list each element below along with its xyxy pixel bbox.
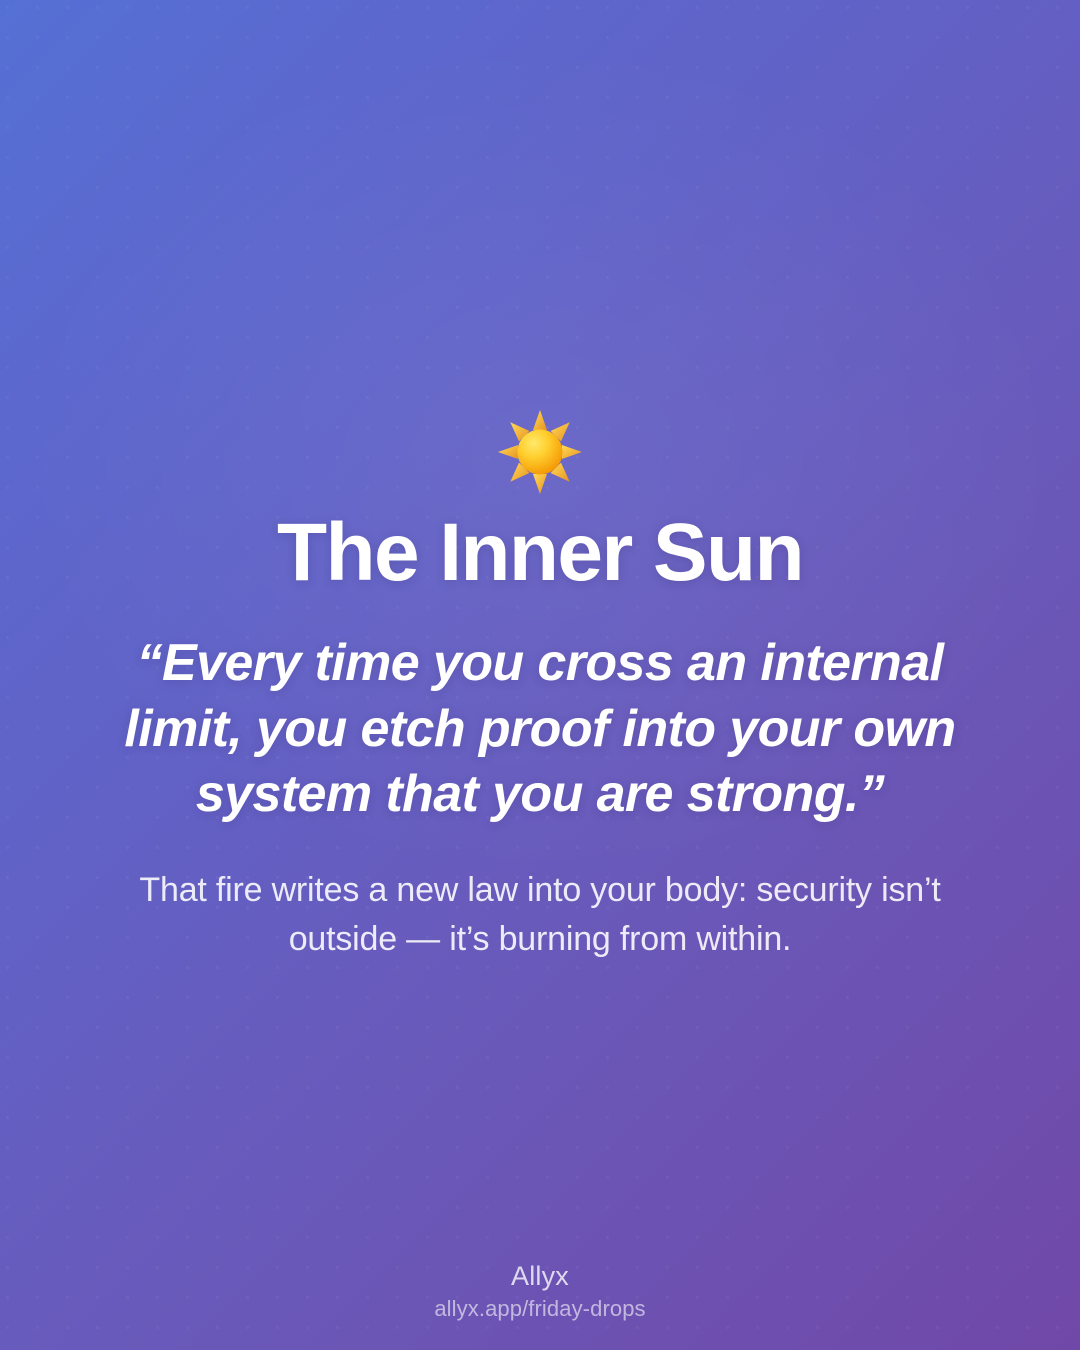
subtitle-text: That fire writes a new law into your bod… <box>90 866 990 964</box>
quote-text: “Every time you cross an internal limit,… <box>115 631 965 828</box>
page-title: The Inner Sun <box>277 510 803 595</box>
quote-card: The Inner Sun “Every time you cross an i… <box>0 0 1080 1350</box>
sun-icon <box>496 408 584 496</box>
